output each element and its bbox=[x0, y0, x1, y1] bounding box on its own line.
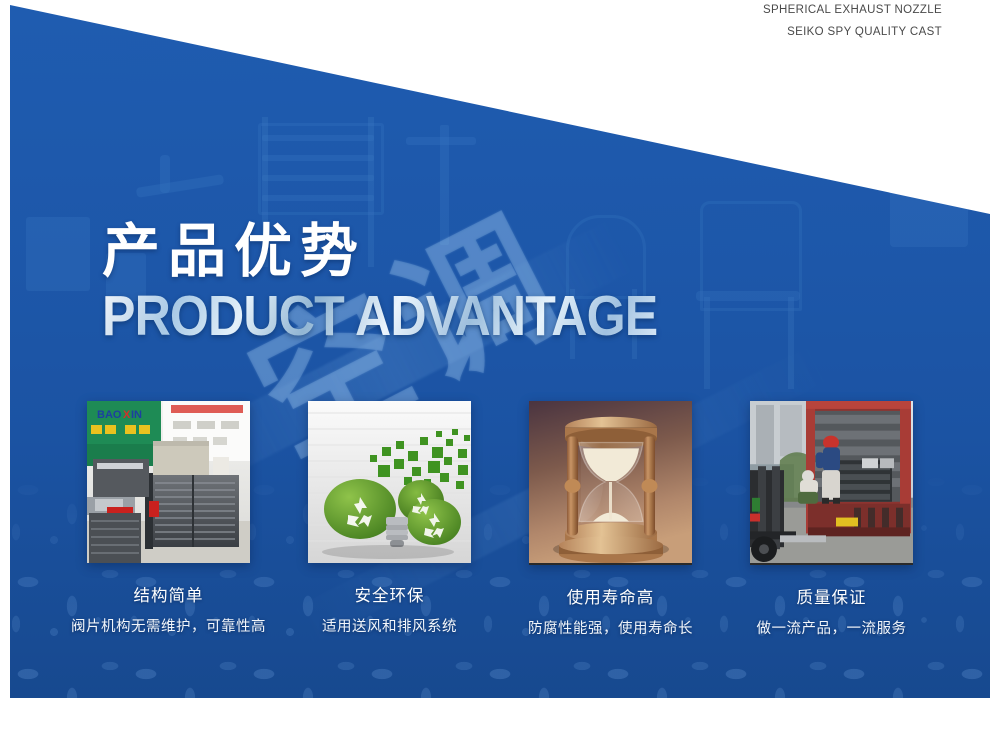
feature-subtitle: 防腐性能强，使用寿命长 bbox=[528, 617, 693, 638]
feature-title: 使用寿命高 bbox=[567, 584, 655, 608]
blue-panel: 空调 产品优势 PRODUCT ADVANTAGE bbox=[10, 5, 990, 698]
feature-card[interactable]: 安全环保 适用送风和排风系统 bbox=[308, 401, 471, 638]
feature-card[interactable]: 使用寿命高 防腐性能强，使用寿命长 bbox=[529, 401, 692, 638]
header-line-1: SPHERICAL EXHAUST NOZZLE bbox=[763, 0, 942, 20]
feature-title: 质量保证 bbox=[797, 584, 867, 608]
svg-text:IN: IN bbox=[131, 409, 142, 421]
hourglass-photo[interactable] bbox=[529, 401, 692, 565]
header-line-2: SEIKO SPY QUALITY CAST bbox=[763, 22, 942, 42]
feature-subtitle: 适用送风和排风系统 bbox=[322, 615, 457, 636]
product-advantage-banner: SPHERICAL EXHAUST NOZZLE SEIKO SPY QUALI… bbox=[0, 0, 1000, 735]
showroom-display-photo[interactable]: BAO X IN bbox=[87, 401, 250, 563]
headline-block: 产品优势 PRODUCT ADVANTAGE bbox=[102, 219, 733, 346]
feature-title: 安全环保 bbox=[355, 582, 425, 606]
header-english-tagline: SPHERICAL EXHAUST NOZZLE SEIKO SPY QUALI… bbox=[763, 0, 942, 42]
page-title-english: PRODUCT ADVANTAGE bbox=[102, 286, 657, 346]
hourglass-illustration bbox=[529, 401, 692, 563]
green-recycle-bulbs-illustration bbox=[308, 401, 471, 563]
truck-loading-illustration bbox=[750, 401, 913, 563]
feature-card[interactable]: BAO X IN bbox=[87, 401, 250, 638]
feature-subtitle: 阀片机构无需维护，可靠性高 bbox=[71, 615, 266, 636]
showroom-display-illustration: BAO X IN bbox=[87, 401, 250, 563]
feature-card[interactable]: 质量保证 做一流产品，一流服务 bbox=[750, 401, 913, 638]
svg-text:BAO: BAO bbox=[97, 409, 122, 421]
feature-title: 结构简单 bbox=[134, 582, 204, 606]
truck-loading-photo[interactable] bbox=[750, 401, 913, 565]
page-title-chinese: 产品优势 bbox=[102, 219, 733, 283]
feature-subtitle: 做一流产品，一流服务 bbox=[757, 617, 907, 638]
feature-card-list: BAO X IN bbox=[10, 401, 990, 638]
green-recycle-bulbs-photo[interactable] bbox=[308, 401, 471, 563]
svg-text:X: X bbox=[123, 409, 131, 421]
